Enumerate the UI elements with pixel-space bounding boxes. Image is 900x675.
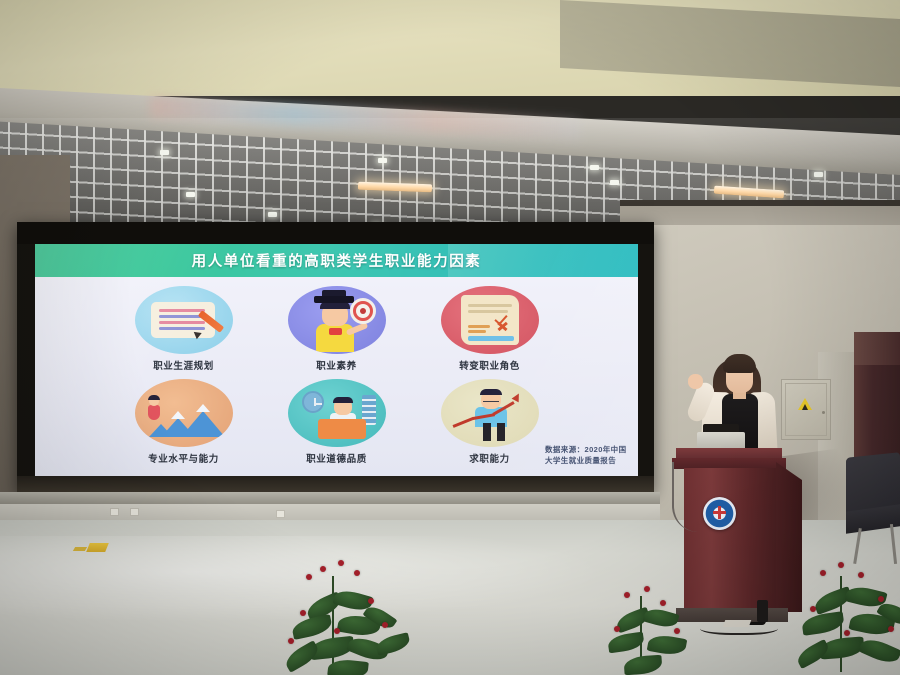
floor-white-strip: [723, 620, 752, 627]
slide-surface: 用人单位看重的高职类学生职业能力因素: [35, 244, 638, 476]
plant-leaf: [291, 614, 334, 640]
growth-arrow-person-icon: [441, 379, 539, 447]
plant-berry: [644, 586, 650, 592]
plant-berry: [878, 596, 884, 602]
graduation-cap-icon: [314, 296, 354, 303]
potted-plant-left: [276, 552, 436, 675]
plant-berry: [334, 628, 340, 634]
projection-screen: 用人单位看重的高职类学生职业能力因素: [35, 244, 638, 476]
presenter-hand: [688, 374, 703, 389]
ceiling-downlight: [610, 180, 619, 185]
slide-source-note: 数据来源：2020年中国大学生就业质量报告: [545, 445, 631, 467]
plant-berry: [624, 592, 630, 598]
scroll-line: [468, 304, 512, 307]
plant-berry: [382, 622, 388, 628]
notepad-line: [159, 309, 205, 312]
wall-outlet: [110, 508, 119, 516]
slide-title: 用人单位看重的高职类学生职业能力因素: [35, 244, 638, 277]
plant-berry: [858, 572, 864, 578]
graduate-hair: [320, 302, 350, 309]
plant-leaf: [647, 633, 688, 657]
ceiling-downlight: [590, 165, 599, 170]
podium-emblem: [703, 497, 736, 530]
panel-lock-knob: [822, 411, 825, 414]
graduate-target-icon: [288, 286, 386, 354]
slide-item-label: 求职能力: [469, 451, 509, 465]
target-bullseye: [360, 308, 366, 314]
plant-berry: [338, 560, 344, 566]
plant-berry: [368, 598, 374, 604]
slide-item: 职业道德品质: [260, 377, 413, 470]
notepad-line: [159, 321, 205, 324]
slide-item-label: 转变职业角色: [459, 358, 520, 372]
person-leg: [497, 423, 505, 441]
clock-hand-minute: [314, 403, 322, 405]
scroll-shape: [461, 295, 519, 345]
slide-item-label: 职业素养: [316, 358, 356, 372]
slide-item: 转变职业角色: [413, 284, 566, 377]
clock-icon: [302, 391, 324, 413]
plant-berry: [888, 626, 894, 632]
mountain-shape: [181, 411, 225, 437]
slide-item: 求职能力: [413, 377, 566, 470]
ceiling-downlight: [814, 172, 823, 177]
plant-berry: [300, 610, 306, 616]
glasses-icon: [483, 401, 499, 405]
plant-leaf: [642, 606, 679, 631]
presenter-hair-top: [723, 354, 756, 373]
screen-bottom-bezel: [17, 476, 654, 492]
graduate-bowtie: [329, 328, 342, 335]
screen-top-bezel: [17, 222, 654, 244]
photo-scene: 用人单位看重的高职类学生职业能力因素: [0, 0, 900, 675]
notepad-pencil-icon: [135, 286, 233, 354]
mountain-shape: [149, 424, 173, 437]
maroon-column-top: [854, 332, 900, 368]
potted-plant-middle: [600, 576, 710, 675]
potted-plant-right: [792, 552, 900, 675]
ceiling-downlight: [186, 192, 195, 197]
plant-berry: [674, 628, 680, 634]
person-hair: [480, 389, 502, 395]
electrical-panel: [781, 379, 831, 440]
wall-outlet: [276, 510, 285, 518]
plant-berry: [288, 638, 294, 644]
plant-berry: [614, 626, 620, 632]
person-leg: [483, 423, 491, 441]
climber-dress: [148, 405, 160, 420]
ceiling-downlight: [268, 212, 277, 217]
plant-leaf: [623, 655, 662, 675]
plant-leaf: [375, 632, 412, 656]
floor-yellow-object-small: [73, 547, 87, 551]
slide-item: 职业素养: [260, 284, 413, 377]
floor-yellow-object: [86, 543, 109, 552]
desk-shape: [318, 419, 366, 439]
plant-berry: [354, 570, 360, 576]
power-adapter: [757, 600, 768, 622]
scroll-bar: [468, 336, 514, 341]
slide-item-label: 专业水平与能力: [148, 451, 219, 465]
plant-berry: [844, 630, 850, 636]
plant-berry: [306, 574, 312, 580]
scroll-line: [468, 325, 490, 328]
slide-item-label: 职业道德品质: [306, 451, 367, 465]
student-hair: [333, 397, 353, 403]
plant-leaf: [801, 611, 845, 636]
slide-item-label: 职业生涯规划: [153, 358, 214, 372]
mountain-snow-cap: [196, 404, 210, 412]
climber-hair: [148, 395, 160, 400]
projection-screen-frame: 用人单位看重的高职类学生职业能力因素: [17, 222, 654, 492]
wall-outlet: [130, 508, 139, 516]
emblem-cross-icon: [713, 511, 726, 514]
scroll-line: [468, 330, 486, 333]
plant-berry: [838, 562, 844, 568]
plant-berry: [660, 600, 666, 606]
warning-triangle-inner-icon: [802, 404, 808, 410]
slide-item: 专业水平与能力: [107, 377, 260, 470]
slide-item: 职业生涯规划: [107, 284, 260, 377]
plant-leaf: [858, 635, 900, 668]
mountain-climber-icon: [135, 379, 233, 447]
growth-arrow-segment: [452, 417, 473, 428]
ceiling-downlight: [378, 158, 387, 163]
plant-berry: [320, 566, 326, 572]
plant-berry: [820, 570, 826, 576]
scroll-check-cross-icon: [441, 286, 539, 354]
plant-berry: [810, 606, 816, 612]
laptop: [697, 432, 745, 449]
ceiling-downlight: [160, 150, 169, 155]
clock-student-books-icon: [288, 379, 386, 447]
